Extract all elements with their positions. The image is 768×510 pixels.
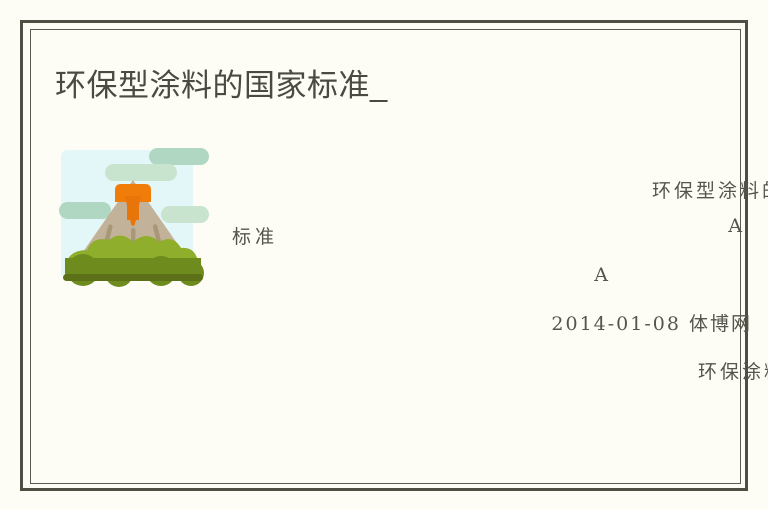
page-title: 环保型涂料的国家标准_ <box>55 67 388 106</box>
excerpt-line: 环保型涂料的 <box>652 176 768 203</box>
excerpt-line: 环保涂料 <box>698 357 768 384</box>
page-canvas: 环保型涂料的国家标准_ <box>0 0 768 510</box>
excerpt-line: A <box>728 215 742 237</box>
excerpt-line: A <box>594 264 608 286</box>
volcano-illustration-icon <box>57 146 209 298</box>
excerpt-line: 标准 <box>232 222 278 249</box>
excerpt-date-source: 2014-01-08 体博网 <box>551 309 752 336</box>
